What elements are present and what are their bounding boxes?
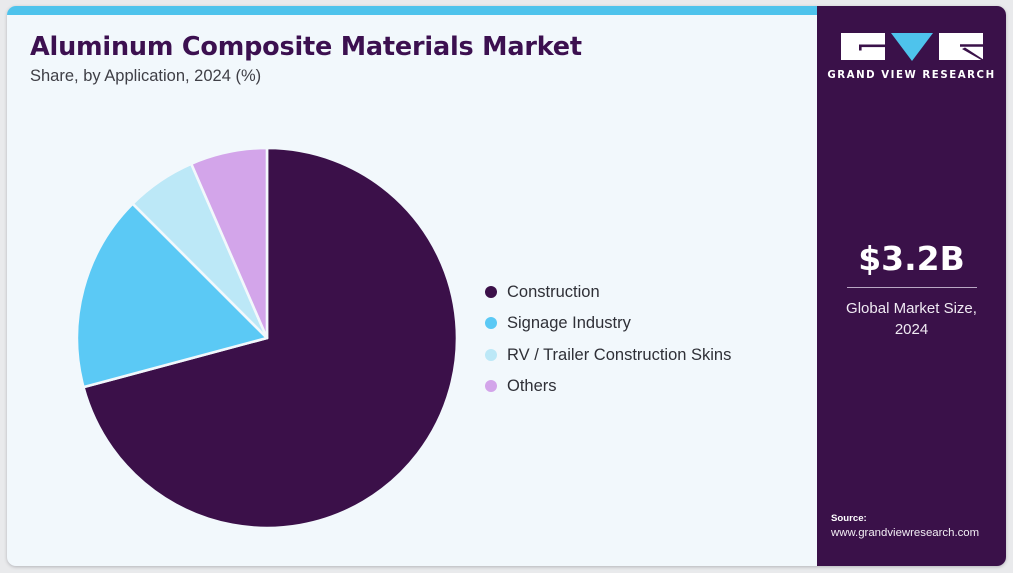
v-triangle-icon — [891, 33, 933, 61]
stat-value: $3.2B — [817, 242, 1006, 275]
legend-item[interactable]: Construction — [485, 276, 805, 308]
titles-block: Aluminum Composite Materials Market Shar… — [30, 33, 790, 87]
source-block: Source: www.grandviewresearch.com — [831, 512, 1001, 541]
brand-wordmark: GRAND VIEW RESEARCH — [817, 70, 1006, 81]
page-title: Aluminum Composite Materials Market — [30, 33, 790, 61]
brand-logo: GRAND VIEW RESEARCH — [817, 32, 1006, 81]
gvr-logo-icon — [841, 32, 983, 62]
pie-chart — [67, 138, 467, 538]
legend-swatch-others — [485, 380, 497, 392]
stat-caption: Global Market Size, 2024 — [817, 298, 1006, 341]
legend-item[interactable]: Signage Industry — [485, 308, 805, 340]
stat-divider — [847, 287, 977, 288]
g-block-icon — [841, 33, 885, 60]
legend-item[interactable]: Others — [485, 371, 805, 403]
pie-chart-svg — [67, 138, 467, 538]
legend-label: Construction — [507, 284, 600, 301]
page-subtitle: Share, by Application, 2024 (%) — [30, 67, 790, 87]
legend-label: RV / Trailer Construction Skins — [507, 347, 731, 364]
source-label: Source: — [831, 512, 1001, 526]
legend-label: Signage Industry — [507, 315, 631, 332]
pie-slice-group — [77, 148, 457, 528]
chart-main-area: Aluminum Composite Materials Market Shar… — [7, 15, 817, 566]
source-url[interactable]: www.grandviewresearch.com — [831, 526, 1001, 541]
legend-item[interactable]: RV / Trailer Construction Skins — [485, 339, 805, 371]
chart-legend: Construction Signage Industry RV / Trail… — [485, 276, 805, 402]
legend-swatch-construction — [485, 286, 497, 298]
market-size-stat: $3.2B Global Market Size, 2024 — [817, 242, 1006, 341]
side-panel: GRAND VIEW RESEARCH $3.2B Global Market … — [817, 6, 1006, 566]
legend-swatch-rv-trailer-construction-skins — [485, 349, 497, 361]
legend-label: Others — [507, 378, 557, 395]
infographic-card: Aluminum Composite Materials Market Shar… — [7, 6, 1006, 566]
legend-swatch-signage-industry — [485, 317, 497, 329]
r-block-icon — [939, 33, 983, 61]
accent-bar — [7, 6, 817, 15]
